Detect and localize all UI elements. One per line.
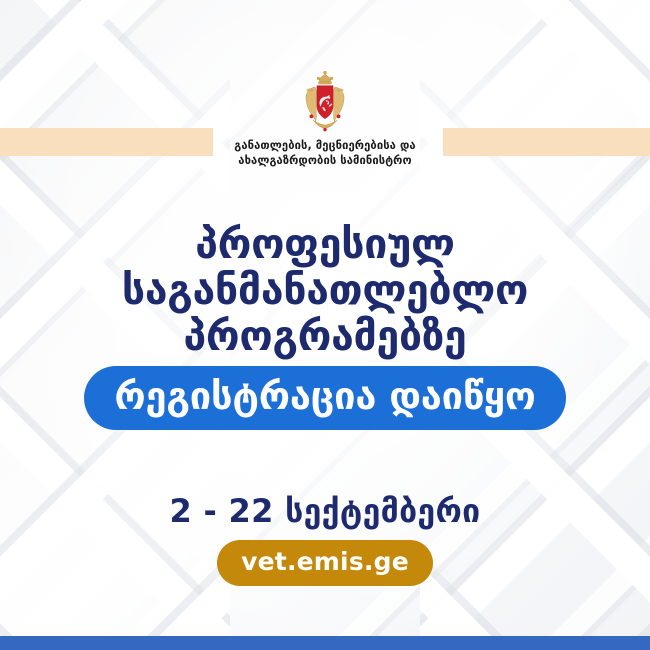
georgia-coat-of-arms-icon: [299, 70, 351, 132]
ministry-name: განათლების, მეცნიერებისა და ახალგაზრდობი…: [234, 138, 415, 169]
headline-line-2: საგანმანათლებლო: [0, 268, 650, 314]
shield-icon: [317, 86, 333, 119]
website-url-pill[interactable]: vet.emis.ge: [217, 540, 433, 586]
headline-line-3: პროგრამებზე: [0, 314, 650, 360]
url-wrap: vet.emis.ge: [0, 540, 650, 586]
banner-wrap: რეგისტრაცია დაიწყო: [0, 366, 650, 430]
promo-poster: განათლების, მეცნიერებისა და ახალგაზრდობი…: [0, 0, 650, 650]
date-range: 2 - 22 სექტემბერი: [0, 492, 650, 530]
bottom-accent-bar: [0, 636, 650, 650]
registration-open-banner: რეგისტრაცია დაიწყო: [84, 366, 565, 430]
headline-line-1: პროფესიულ: [0, 222, 650, 268]
header: განათლების, მეცნიერებისა და ახალგაზრდობი…: [0, 70, 650, 169]
headline: პროფესიულ საგანმანათლებლო პროგრამებზე: [0, 222, 650, 360]
